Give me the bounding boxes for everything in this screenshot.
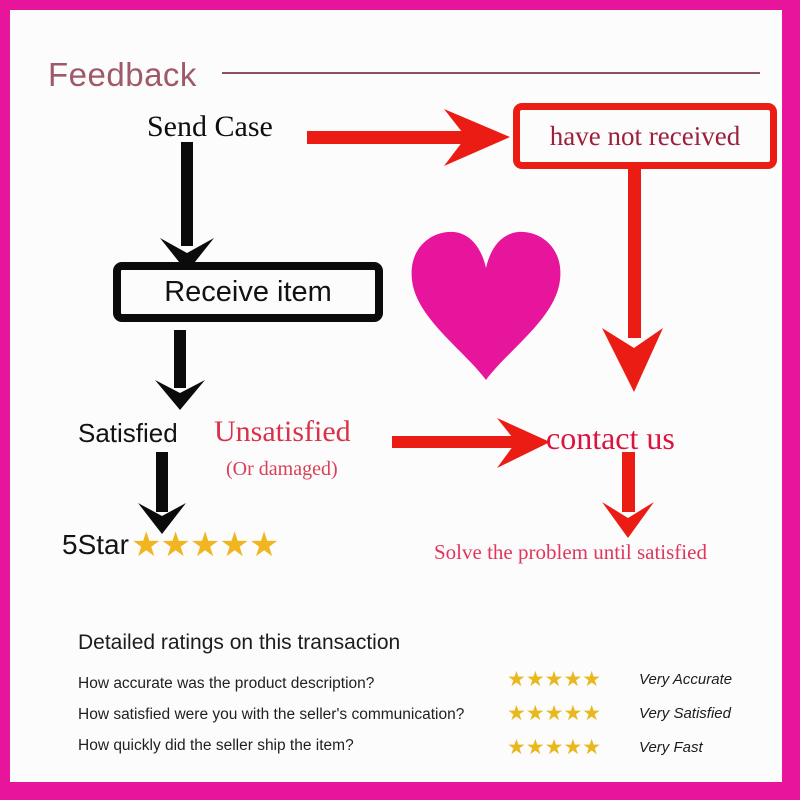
- rating-question: How satisfied were you with the seller's…: [78, 699, 508, 730]
- node-satisfied: Satisfied: [78, 418, 178, 449]
- rating-label: Very Fast: [639, 739, 703, 756]
- node-receive-item: Receive item: [113, 262, 383, 322]
- heart-icon: [406, 228, 566, 386]
- arrow-receive-to-satisfied: [155, 330, 205, 410]
- arrow-contact-to-solve: [602, 452, 654, 538]
- node-send-case: Send Case: [147, 110, 273, 144]
- node-have-not-received: have not received: [513, 103, 777, 169]
- node-have-not-received-label: have not received: [550, 121, 740, 152]
- rating-stars-icon: ★★★★★: [507, 737, 629, 758]
- node-five-star: 5Star ★★★★★: [62, 528, 278, 562]
- rating-row: ★★★★★ Very Accurate: [507, 662, 732, 696]
- node-solve-problem: Solve the problem until satisfied: [434, 540, 707, 565]
- rating-question: How quickly did the seller ship the item…: [78, 730, 508, 761]
- detailed-ratings-scores: ★★★★★ Very Accurate ★★★★★ Very Satisfied…: [507, 662, 732, 764]
- five-star-icons: ★★★★★: [131, 528, 278, 562]
- rating-label: Very Satisfied: [639, 705, 731, 722]
- feedback-infographic: Feedback: [10, 10, 782, 782]
- arrow-satisfied-to-star: [138, 452, 186, 534]
- rating-row: ★★★★★ Very Satisfied: [507, 696, 732, 730]
- node-receive-item-label: Receive item: [164, 276, 332, 309]
- arrow-unsatisfied-to-contact: [392, 418, 550, 468]
- node-contact-us: contact us: [546, 420, 675, 457]
- arrow-send-to-havenot: [307, 109, 510, 166]
- rating-stars-icon: ★★★★★: [507, 669, 629, 690]
- node-unsatisfied: Unsatisfied: [214, 415, 351, 449]
- arrow-havenot-to-contact: [602, 168, 663, 392]
- rating-stars-icon: ★★★★★: [507, 703, 629, 724]
- rating-question: How accurate was the product description…: [78, 668, 508, 699]
- node-or-damaged: (Or damaged): [226, 458, 338, 481]
- arrow-send-to-receive: [160, 142, 214, 272]
- five-star-label: 5Star: [62, 529, 129, 561]
- rating-label: Very Accurate: [639, 671, 732, 688]
- detailed-ratings-title: Detailed ratings on this transaction: [78, 631, 400, 655]
- rating-row: ★★★★★ Very Fast: [507, 730, 732, 764]
- detailed-ratings-questions: How accurate was the product description…: [78, 668, 508, 761]
